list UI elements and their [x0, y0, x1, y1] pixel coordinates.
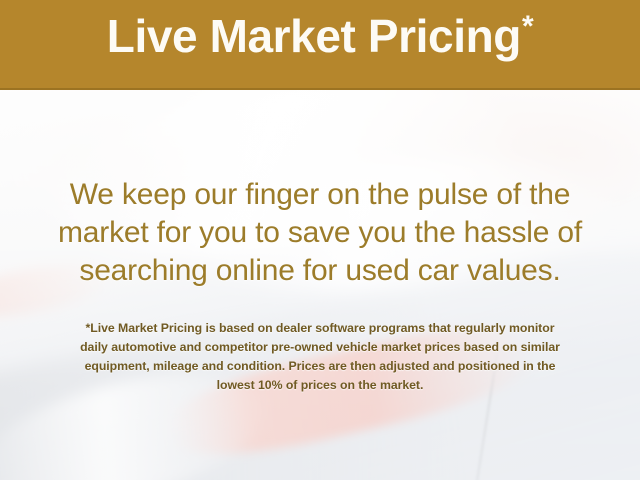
headline-line-2: market for you to save you the hassle of	[28, 214, 612, 252]
disclaimer-line-3: equipment, mileage and condition. Prices…	[28, 357, 612, 376]
headline-line-3: searching online for used car values.	[28, 252, 612, 290]
page-title-text: Live Market Pricing	[107, 10, 521, 62]
page-title-asterisk: *	[522, 10, 533, 43]
header-banner: Live Market Pricing*	[0, 0, 640, 90]
live-market-pricing-slide: Live Market Pricing* We keep our finger …	[0, 0, 640, 480]
disclaimer-line-2: daily automotive and competitor pre-owne…	[28, 338, 612, 357]
headline-text: We keep our finger on the pulse of the m…	[28, 176, 612, 290]
page-title: Live Market Pricing*	[0, 12, 640, 60]
disclaimer-text: *Live Market Pricing is based on dealer …	[28, 319, 612, 395]
disclaimer-line-1: *Live Market Pricing is based on dealer …	[28, 319, 612, 338]
headline-line-1: We keep our finger on the pulse of the	[28, 176, 612, 214]
disclaimer-line-4: lowest 10% of prices on the market.	[28, 376, 612, 395]
